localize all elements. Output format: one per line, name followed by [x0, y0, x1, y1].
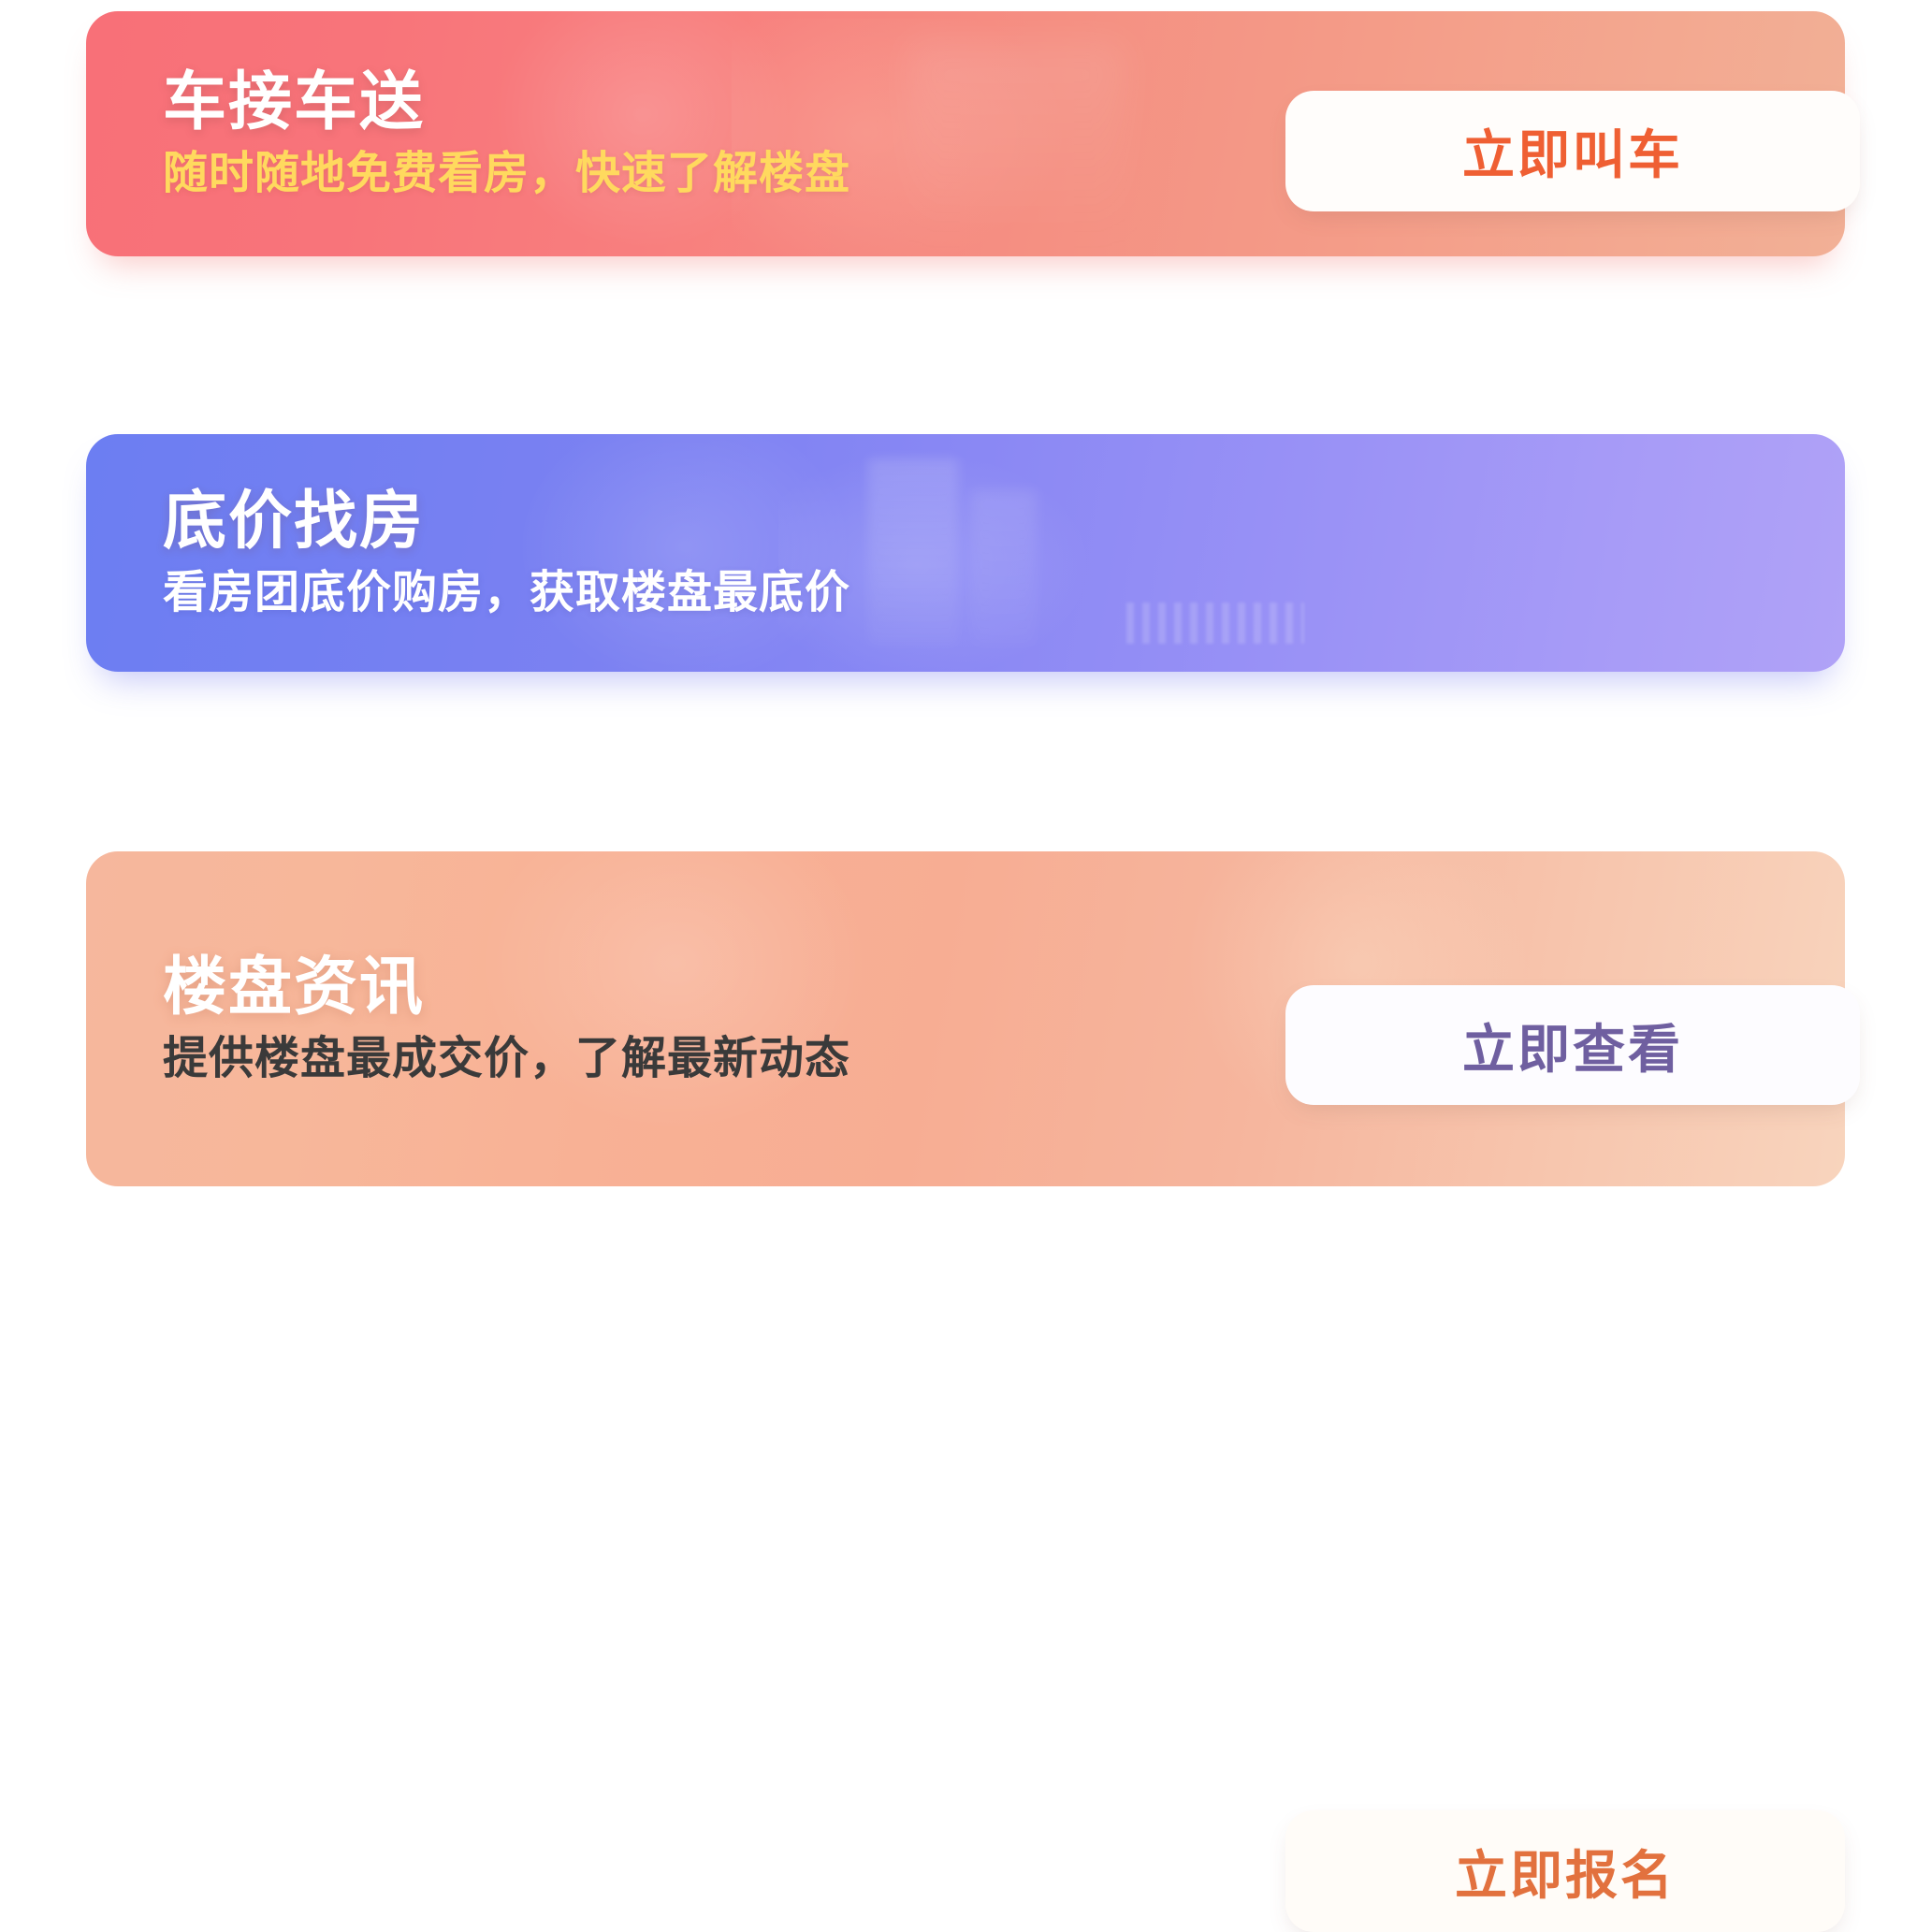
background-tower-icon: [868, 458, 958, 646]
promo-card-title: 底价找房: [163, 487, 850, 555]
promo-card-property-news-text: 楼盘资讯 提供楼盘最成交价，了解最新动态: [86, 953, 850, 1084]
promo-card-car-service[interactable]: 车接车送 随时随地免费看房，快速了解楼盘 立即叫车: [86, 11, 1845, 256]
promo-card-lowest-price-text: 底价找房 看房团底价购房，获取楼盘最底价: [86, 487, 850, 618]
promo-banner-stack: 车接车送 随时随地免费看房，快速了解楼盘 立即叫车 底价找房 看房团底价购房，获…: [0, 0, 1931, 1198]
promo-card-subtitle: 看房团底价购房，获取楼盘最底价: [163, 568, 850, 618]
promo-card-lowest-price[interactable]: 底价找房 看房团底价购房，获取楼盘最底价 立即查看: [86, 434, 1845, 672]
view-now-button[interactable]: 立即查看: [1285, 985, 1860, 1105]
promo-card-title: 车接车送: [163, 68, 850, 136]
promo-card-subtitle: 提供楼盘最成交价，了解最新动态: [163, 1034, 850, 1084]
background-building-silhouette-icon: [909, 43, 1125, 240]
background-tower-secondary-icon: [971, 490, 1037, 647]
background-window-grid-icon: [1126, 603, 1304, 644]
sign-up-button[interactable]: 立即报名: [1285, 1810, 1845, 1932]
promo-card-subtitle: 随时随地免费看房，快速了解楼盘: [163, 149, 850, 199]
call-car-button[interactable]: 立即叫车: [1285, 91, 1860, 211]
promo-card-title: 楼盘资讯: [163, 953, 850, 1021]
promo-card-lowest-price-surface: 底价找房 看房团底价购房，获取楼盘最底价: [86, 434, 1845, 672]
promo-card-car-service-text: 车接车送 随时随地免费看房，快速了解楼盘: [86, 68, 850, 199]
